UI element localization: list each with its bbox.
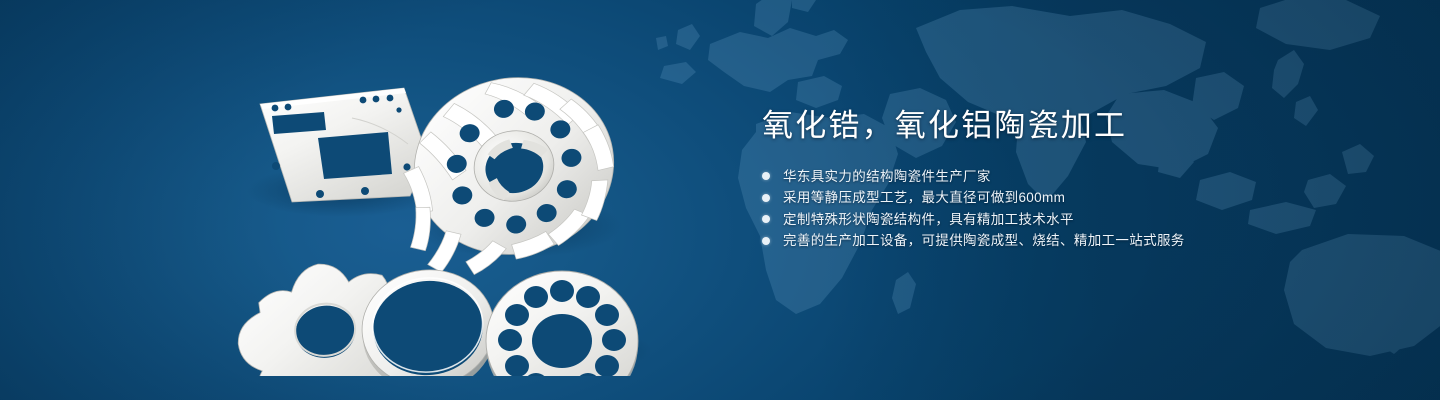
list-item-label: 定制特殊形状陶瓷结构件，具有精加工技术水平 [783, 209, 1074, 231]
bullet-dot-icon [762, 172, 770, 180]
list-item-label: 采用等静压成型工艺，最大直径可做到600mm [783, 187, 1065, 209]
page-title: 氧化锆，氧化铝陶瓷加工 [762, 108, 1362, 144]
banner-copy: 氧化锆，氧化铝陶瓷加工 华东具实力的结构陶瓷件生产厂家 采用等静压成型工艺，最大… [762, 108, 1362, 252]
list-item: 完善的生产加工设备，可提供陶瓷成型、烧结、精加工一站式服务 [762, 230, 1362, 252]
feature-list: 华东具实力的结构陶瓷件生产厂家 采用等静压成型工艺，最大直径可做到600mm 定… [762, 166, 1362, 252]
ceramic-perforated-disc [486, 271, 638, 376]
list-item-label: 完善的生产加工设备，可提供陶瓷成型、烧结、精加工一站式服务 [783, 230, 1185, 252]
bullet-dot-icon [762, 215, 770, 223]
list-item: 定制特殊形状陶瓷结构件，具有精加工技术水平 [762, 209, 1362, 231]
list-item-label: 华东具实力的结构陶瓷件生产厂家 [783, 166, 991, 188]
bullet-dot-icon [762, 237, 770, 245]
ceramic-impeller-disc [384, 62, 629, 285]
ceramic-products-image [232, 46, 702, 376]
hero-banner: 氧化锆，氧化铝陶瓷加工 华东具实力的结构陶瓷件生产厂家 采用等静压成型工艺，最大… [0, 0, 1440, 400]
list-item: 华东具实力的结构陶瓷件生产厂家 [762, 166, 1362, 188]
bullet-dot-icon [762, 194, 770, 202]
list-item: 采用等静压成型工艺，最大直径可做到600mm [762, 187, 1362, 209]
